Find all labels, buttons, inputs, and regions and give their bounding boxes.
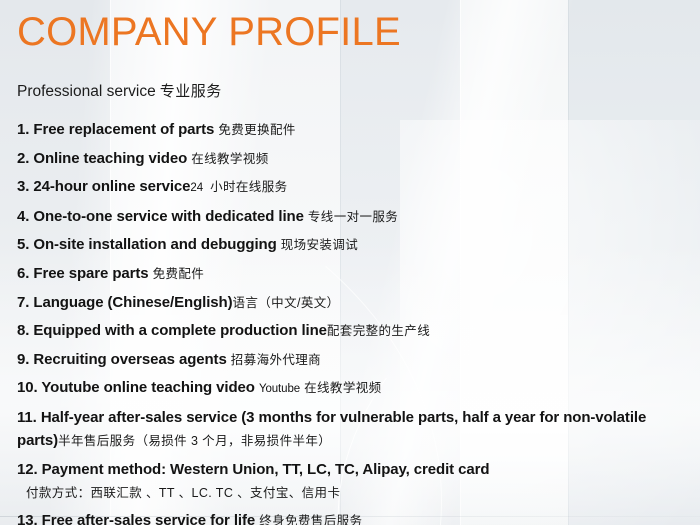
item-number: 4.: [17, 208, 29, 225]
item-number: 12.: [17, 461, 38, 478]
item-text-en: One-to-one service with dedicated line: [33, 208, 303, 225]
item-text-cn: 半年售后服务（易损件 3 个月，非易损件半年）: [58, 434, 331, 448]
item-number: 8.: [17, 322, 29, 339]
item-text-cn-prefix: 24: [190, 182, 203, 194]
list-item: 1. Free replacement of parts 免费更换配件: [17, 118, 688, 142]
section-heading: Professional service专业服务: [17, 82, 222, 102]
item-number: 13.: [17, 512, 38, 525]
item-text-en: Free spare parts: [33, 265, 148, 282]
item-text-cn: 专线一对一服务: [308, 210, 398, 224]
payment-methods-cn: 付款方式：西联汇款 、TT 、LC. TC 、支付宝、信用卡: [26, 483, 688, 504]
list-item: 4. One-to-one service with dedicated lin…: [17, 205, 688, 229]
item-text-en: Free replacement of parts: [33, 121, 214, 138]
payment-label: 付款方式：: [26, 486, 91, 500]
payment-methods: 西联汇款 、TT 、LC. TC 、支付宝、信用卡: [91, 486, 341, 500]
item-text-en: Equipped with a complete production line: [33, 322, 327, 339]
list-item: 13. Free after-sales service for life 终身…: [17, 509, 688, 525]
list-item: 2. Online teaching video 在线教学视频: [17, 147, 688, 171]
service-list: 1. Free replacement of parts 免费更换配件 2. O…: [17, 118, 688, 525]
slide-canvas: COMPANY PROFILE Professional service专业服务…: [0, 0, 700, 525]
slide-content: COMPANY PROFILE Professional service专业服务…: [0, 0, 700, 525]
item-text-en: Free after-sales service for life: [42, 512, 255, 525]
list-item: 11. Half-year after-sales service (3 mon…: [17, 406, 688, 454]
item-text-cn: 在线教学视频: [304, 381, 381, 395]
item-number: 3.: [17, 178, 29, 195]
page-title: COMPANY PROFILE: [17, 9, 401, 55]
section-heading-cn: 专业服务: [160, 83, 222, 100]
item-text-cn: 现场安装调试: [281, 238, 358, 252]
item-text-cn: 免费配件: [153, 267, 205, 281]
item-text-en: Youtube online teaching video: [41, 379, 255, 396]
item-number: 2.: [17, 150, 29, 167]
item-number: 5.: [17, 236, 29, 253]
list-item: 10. Youtube online teaching video Youtub…: [17, 376, 688, 401]
item-text-cn-prefix: Youtube: [259, 383, 300, 395]
list-item: 6. Free spare parts 免费配件: [17, 262, 688, 286]
item-text-cn: 在线教学视频: [191, 152, 268, 166]
item-number: 11.: [17, 409, 37, 426]
list-item: 9. Recruiting overseas agents 招募海外代理商: [17, 348, 688, 372]
item-text-en: Language (Chinese/English): [33, 294, 232, 311]
item-text-en: On-site installation and debugging: [33, 236, 276, 253]
item-text-cn: 配套完整的生产线: [327, 324, 430, 338]
item-text-cn: 终身免费售后服务: [259, 514, 362, 525]
section-heading-en: Professional service: [17, 83, 156, 100]
item-number: 9.: [17, 351, 29, 368]
item-number: 7.: [17, 294, 29, 311]
list-item: 3. 24-hour online service24 小时在线服务: [17, 175, 688, 200]
item-number: 1.: [17, 121, 29, 138]
item-number: 10.: [17, 379, 38, 396]
item-text-cn: 小时在线服务: [210, 180, 287, 194]
item-text-cn: 招募海外代理商: [231, 353, 321, 367]
item-text-en: Payment method: Western Union, TT, LC, T…: [42, 461, 490, 478]
item-text-cn: 免费更换配件: [218, 123, 295, 137]
list-item: 7. Language (Chinese/English)语言（中文/英文）: [17, 291, 688, 315]
item-text-cn: 语言（中文/英文）: [232, 296, 339, 310]
list-item: 5. On-site installation and debugging 现场…: [17, 233, 688, 257]
list-item: 8. Equipped with a complete production l…: [17, 319, 688, 343]
list-item: 12. Payment method: Western Union, TT, L…: [17, 458, 688, 481]
item-text-en: 24-hour online service: [33, 178, 190, 195]
item-text-en: Online teaching video: [33, 150, 187, 167]
item-number: 6.: [17, 265, 29, 282]
item-text-en: Recruiting overseas agents: [33, 351, 226, 368]
